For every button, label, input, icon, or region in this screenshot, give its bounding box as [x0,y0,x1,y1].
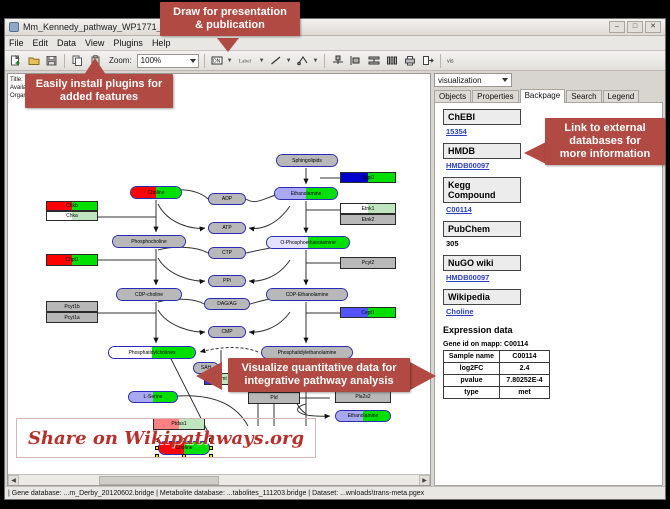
gene-node-sgpl1[interactable]: Sgpl1 [340,172,396,183]
new-file-icon[interactable] [8,53,23,68]
gene-node-pcyt1b[interactable]: Pcyt1b [46,301,98,312]
callout-links-line3: more information [553,148,657,161]
share-banner: Share on Wikipathways.org [16,418,316,458]
menu-item-file[interactable]: File [9,38,24,48]
db-header-kegg-compound: Kegg Compound [443,177,521,203]
gene-node-etnk2[interactable]: Etnk2 [340,214,396,225]
metabolite-node-l-serine[interactable]: L-Serine [128,391,178,403]
callout-draw-line1: Draw for presentation [168,6,292,19]
tab-backpage[interactable]: Backpage [520,89,566,103]
align-left-icon[interactable] [348,53,363,68]
svg-text:DN: DN [213,59,221,65]
export-icon[interactable] [420,53,435,68]
db-link-nugo-wiki[interactable]: HMDB00097 [446,273,489,282]
zoom-combobox[interactable]: 100% [137,54,199,68]
node-label: Sgpl1 [362,175,375,181]
node-label: Phosphocholine [131,239,167,245]
gene-node-pcyt2[interactable]: Pcyt2 [340,257,396,269]
title-bar: Mm_Kennedy_pathway_WP1771_45176.gpml – □… [5,19,665,36]
toolbar-separator [64,54,65,68]
node-label: Ethanolamine [291,191,322,197]
node-label: Sphingolipids [292,158,322,164]
callout-visualize-arrow-right-icon [410,362,436,390]
node-label: Chka [66,213,78,219]
expr-value-type: met [500,387,550,399]
print-icon[interactable] [402,53,417,68]
minimize-button[interactable]: – [609,21,625,33]
table-row: pvalue 7.80252E-4 [444,375,550,387]
status-bar: | Gene database: ...m_Derby_20120602.bri… [5,486,665,499]
db-link-hmdb[interactable]: HMDB00097 [446,161,489,170]
visualization-combobox[interactable]: visualization [434,73,512,87]
metabolite-node-cmp[interactable]: CMP [208,326,246,338]
metabolite-node-ethanolamine[interactable]: Ethanolamine [274,187,338,200]
node-label: Pcyt2 [362,260,375,266]
db-link-kegg-compound[interactable]: C00114 [446,205,472,214]
node-label: Etnk2 [362,217,375,223]
db-header-chebi: ChEBI [443,109,521,125]
distribute-icon[interactable] [366,53,381,68]
callout-visualize-line1: Visualize quantitative data for [236,362,402,375]
status-text: | Gene database: ...m_Derby_20120602.bri… [8,490,424,497]
menu-item-edit[interactable]: Edit [33,38,49,48]
gene-node-chka[interactable]: Chka [46,211,98,221]
label-tool-icon[interactable]: Label [237,53,257,68]
expression-data-title: Expression data [443,325,656,335]
callout-plugins-arrow-icon [84,58,106,75]
chevron-down-icon [502,78,508,82]
callout-links: Link to external databases for more info… [545,118,665,165]
metabolite-node-ppi[interactable]: PPi [208,275,246,287]
datanode-icon[interactable]: DN [210,53,225,68]
table-row: log2FC 2.4 [444,363,550,375]
open-file-icon[interactable] [26,53,41,68]
shape-tool-icon[interactable] [296,53,311,68]
align-icon[interactable] [330,53,345,68]
scroll-left-icon[interactable]: ◀ [8,475,19,486]
shape-dropdown-icon[interactable]: ▼ [313,58,319,64]
visualization-value: visualization [438,76,482,85]
close-button[interactable]: ✕ [645,21,661,33]
gene-node-chkb[interactable]: Chkb [46,201,98,211]
db-header-nugo-wiki: NuGO wiki [443,255,521,271]
gene-node-chpt1[interactable]: Chpt1 [46,254,98,266]
callout-draw-arrow-icon [217,38,239,52]
metabolite-node-phosphatidylcholines[interactable]: Phosphatidylcholines [108,346,196,359]
gene-node-etnk1[interactable]: Etnk1 [340,203,396,214]
node-label: PPi [223,278,231,284]
node-label: Choline [148,190,165,196]
copy-icon[interactable] [70,53,85,68]
svg-text:Label: Label [239,59,252,65]
gene-node-pla2s2[interactable]: Pla2s2 [335,391,391,403]
db-header-pubchem: PubChem [443,221,521,237]
metabolite-node-dag-ag[interactable]: DAG/AG [204,298,250,310]
callout-links-line2: databases for [553,135,657,148]
node-label: Chpt1 [65,257,78,263]
node-label: CDP-choline [135,292,163,298]
metabolite-node-ctp[interactable]: CTP [208,247,246,259]
callout-links-arrow-icon [524,142,546,164]
gene-node-cept1[interactable]: Cept1 [340,307,396,318]
node-label: Chkb [66,203,78,209]
callout-plugins-line2: added features [33,91,165,104]
save-file-icon[interactable] [44,53,59,68]
zoom-value: 100% [141,56,161,65]
callout-visualize-arrow-left-icon [196,362,222,390]
node-label: CTP [222,250,232,256]
toolbar-separator [204,54,205,68]
metabolite-node-sphingolipids[interactable]: Sphingolipids [276,154,338,167]
space-evenly-icon[interactable] [384,53,399,68]
callout-links-line1: Link to external [553,122,657,135]
datanode-dropdown-icon[interactable]: ▼ [227,58,233,64]
metabolite-node-adp[interactable]: ADP [208,193,246,205]
metabolite-node-cdp-choline[interactable]: CDP-choline [116,288,182,301]
node-label: ADP [222,196,232,202]
callout-visualize-line2: integrative pathway analysis [236,375,402,388]
expression-table: Sample name C00114 log2FC 2.4 pvalue 7.8… [443,350,550,399]
node-label: L-Serine [144,394,163,400]
metabolite-node-choline[interactable]: Choline [130,186,182,199]
node-label: O-Phosphoethanolamine [280,240,335,246]
node-label: CDP-Ethanolamine [286,292,329,298]
metabolite-node-phosphocholine[interactable]: Phosphocholine [112,235,186,248]
node-label: DAG/AG [217,301,236,307]
callout-draw-line2: & publication [168,19,292,32]
node-label: Pcyt1a [64,315,79,321]
label-dropdown-icon[interactable]: ▼ [259,58,265,64]
line-tool-icon[interactable] [269,53,284,68]
canvas-hscrollbar[interactable]: ◀ ▶ [8,474,430,485]
db-link-wikipedia[interactable]: Choline [446,307,474,316]
metabolite-node-ethanolamine[interactable]: Ethanolamine [335,410,391,422]
table-row: type met [444,387,550,399]
callout-plugins-line1: Easily install plugins for [33,78,165,91]
table-row: Sample name C00114 [444,351,550,363]
expr-key-pvalue: pvalue [444,375,500,387]
share-banner-text: Share on Wikipathways.org [28,428,304,449]
metabolite-node-atp[interactable]: ATP [208,222,246,234]
expr-value-log2fc: 2.4 [500,363,550,375]
menu-item-plugins[interactable]: Plugins [113,38,143,48]
expr-value-sample-name: C00114 [500,351,550,363]
scroll-thumb[interactable] [99,476,219,485]
scroll-right-icon[interactable]: ▶ [419,475,430,486]
window-controls: – □ ✕ [609,21,661,33]
callout-visualize: Visualize quantitative data for integrat… [228,358,410,392]
zoom-label: Zoom: [109,56,132,65]
callout-draw: Draw for presentation & publication [160,2,300,36]
metabolite-node-o-phosphoethanolamine[interactable]: O-Phosphoethanolamine [266,236,350,249]
node-label: Phosphatidylcholines [129,350,176,356]
gene-id-line: Gene id on mapp: C00114 [443,341,656,348]
node-label: Pla2s2 [355,394,370,400]
node-label: Etnk1 [362,206,375,212]
menu-item-data[interactable]: Data [57,38,76,48]
expr-key-type: type [444,387,500,399]
svg-text:vis: vis [447,59,454,65]
node-label: Pcyt1b [64,304,79,310]
visualization-tool-icon[interactable]: vis [446,53,464,68]
node-label: Cept1 [361,310,374,316]
menu-item-view[interactable]: View [85,38,104,48]
db-header-hmdb: HMDB [443,143,521,159]
db-value-pubchem: 305 [446,239,459,248]
chevron-down-icon [190,59,196,63]
menu-item-help[interactable]: Help [152,38,171,48]
metabolite-node-cdp-ethanolamine[interactable]: CDP-Ethanolamine [266,288,348,301]
maximize-button[interactable]: □ [627,21,643,33]
db-link-chebi[interactable]: 15354 [446,127,467,136]
toolbar-separator [440,54,441,68]
expr-key-log2fc: log2FC [444,363,500,375]
node-label: Ethanolamine [348,413,379,419]
db-header-wikipedia: Wikipedia [443,289,521,305]
app-icon [9,22,19,32]
toolbar-separator [324,54,325,68]
gene-node-pld[interactable]: Pld [248,392,300,404]
node-label: ATP [222,225,231,231]
node-label: CMP [221,329,232,335]
menu-bar: File Edit Data View Plugins Help [5,36,665,51]
expr-value-pvalue: 7.80252E-4 [500,375,550,387]
node-label: Pld [270,395,277,401]
gene-node-pcyt1a[interactable]: Pcyt1a [46,312,98,323]
node-label: Phosphatidylethanolamine [278,350,337,356]
callout-plugins: Easily install plugins for added feature… [25,74,173,108]
expr-key-sample-name: Sample name [444,351,500,363]
line-dropdown-icon[interactable]: ▼ [286,58,292,64]
